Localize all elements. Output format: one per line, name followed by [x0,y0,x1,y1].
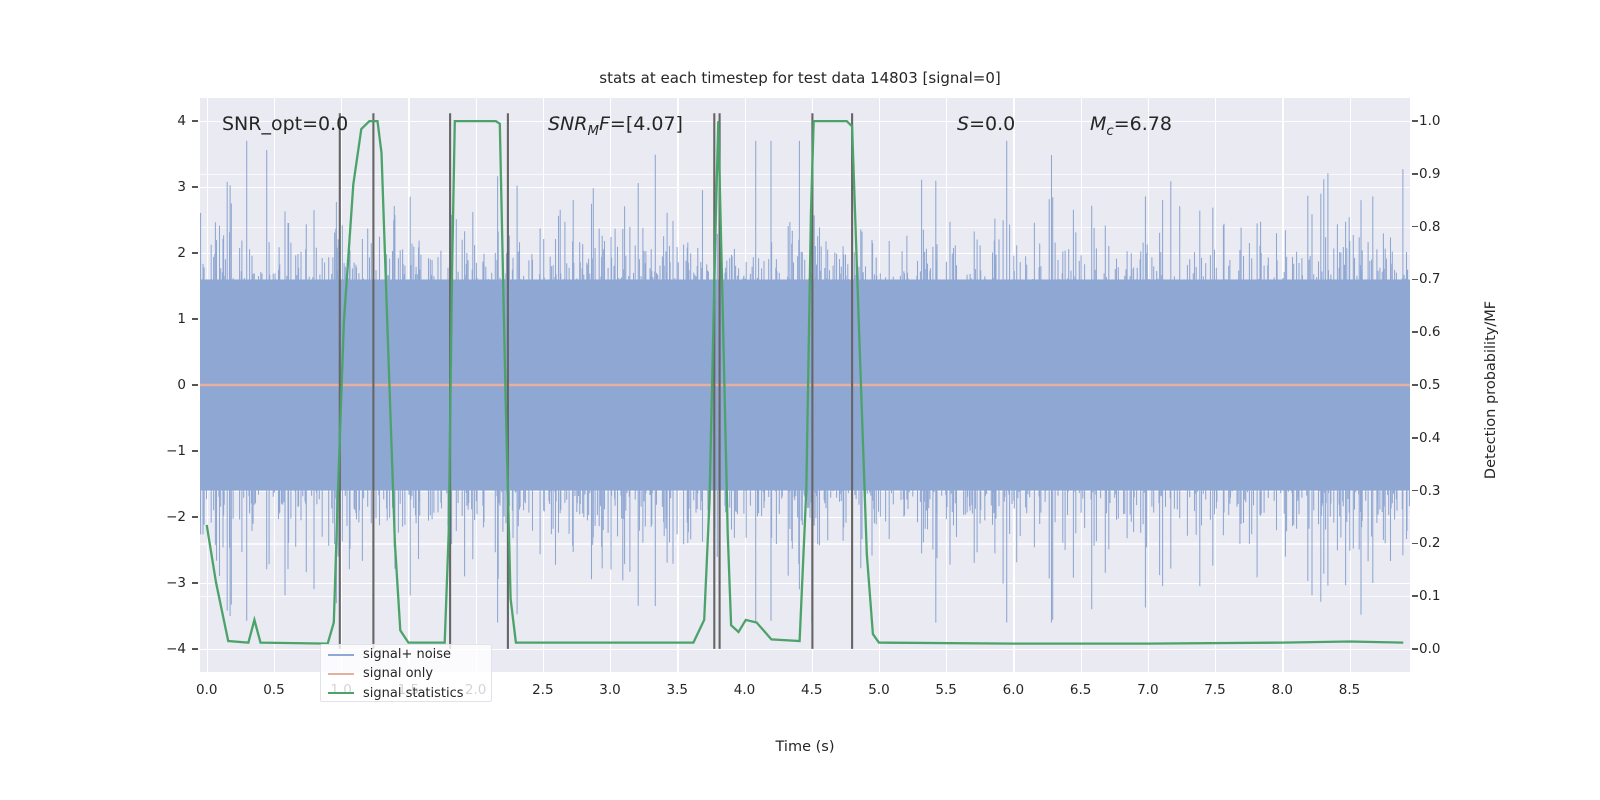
y-axis-left-tick-mark [192,252,198,254]
figure-canvas: stats at each timestep for test data 148… [0,0,1600,800]
y-axis-left-tick-label: 2 [177,245,186,261]
y-axis-right-tick-label: 0.9 [1419,166,1440,182]
x-axis-label: Time (s) [776,739,835,755]
x-axis-tick-label: 6.0 [1003,682,1024,698]
y-axis-right-label: Detection probability/MF [1483,301,1499,479]
y-axis-right-tick-label: 0.7 [1419,271,1440,287]
y-axis-left-tick-mark [192,384,198,386]
y-axis-left-tick-label: −2 [166,509,186,525]
x-axis-tick-label: 5.5 [935,682,956,698]
series-signal-plus-noise [200,141,1410,623]
x-axis-tick-label: 7.5 [1204,682,1225,698]
y-axis-right-tick-mark [1412,595,1418,597]
y-axis-left-tick-mark [192,516,198,518]
legend-item: signal only [321,664,491,683]
y-axis-right-tick-mark [1412,490,1418,492]
y-axis-left-tick-label: −3 [166,575,186,591]
y-axis-left-tick-label: −1 [166,443,186,459]
y-axis-right-tick-mark [1412,543,1418,545]
x-axis-tick-label: 4.0 [734,682,755,698]
y-axis-right-tick-label: 0.1 [1419,588,1440,604]
y-axis-right-tick-mark [1412,226,1418,228]
y-axis-right-tick-mark [1412,437,1418,439]
legend-item: signal+ noise [321,645,491,664]
y-axis-left-tick-mark [192,582,198,584]
x-axis-tick-label: 0.0 [196,682,217,698]
y-axis-left-tick-mark [192,450,198,452]
y-axis-right-tick-label: 0.4 [1419,430,1440,446]
y-axis-left-tick-label: 3 [177,179,186,195]
x-axis-tick-label: 3.5 [667,682,688,698]
x-axis-tick-label: 3.0 [599,682,620,698]
y-axis-right-tick-label: 1.0 [1419,113,1440,129]
annotation-s-stat: S=0.0 [957,113,1015,135]
legend-color-swatch [328,673,354,675]
y-axis-left-tick-label: 4 [177,113,186,129]
x-axis-tick-label: 8.0 [1272,682,1293,698]
legend-item: signal statistics [321,684,491,703]
y-axis-right-tick-label: 0.8 [1419,219,1440,235]
annotation-chirp-mass: Mc=6.78 [1090,113,1172,139]
y-axis-right-tick-mark [1412,120,1418,122]
y-axis-right-tick-mark [1412,279,1418,281]
annotation-snr-mf: SNRMF=[4.07] [548,113,683,139]
legend-label: signal statistics [363,686,464,701]
y-axis-left-tick-mark [192,186,198,188]
y-axis-left-tick-mark [192,318,198,320]
annotation-snr-opt: SNR_opt=0.0 [222,113,348,135]
x-axis-tick-label: 4.5 [801,682,822,698]
y-axis-left-label: Whitened strain [0,252,1,367]
y-axis-right-tick-label: 0.2 [1419,535,1440,551]
page-title: stats at each timestep for test data 148… [0,69,1600,87]
y-axis-right-tick-mark [1412,331,1418,333]
y-axis-right-tick-mark [1412,173,1418,175]
plot-area [200,98,1410,672]
y-axis-right-tick-label: 0.5 [1419,377,1440,393]
y-axis-left-tick-mark [192,648,198,650]
x-axis-tick-label: 8.5 [1339,682,1360,698]
legend-color-swatch [328,654,354,656]
chart-svg [200,98,1410,672]
y-axis-right-tick-mark [1412,648,1418,650]
data-layer [200,98,1410,672]
y-axis-left-tick-label: 1 [177,311,186,327]
legend-label: signal+ noise [363,647,451,662]
y-axis-right-tick-label: 0.6 [1419,324,1440,340]
x-axis-tick-label: 5.0 [868,682,889,698]
legend-label: signal only [363,666,433,681]
x-axis-tick-label: 7.0 [1137,682,1158,698]
x-axis-tick-label: 0.5 [263,682,284,698]
y-axis-left-tick-mark [192,120,198,122]
y-axis-right-tick-label: 0.3 [1419,483,1440,499]
y-axis-right-tick-mark [1412,384,1418,386]
chart-legend: signal+ noisesignal onlysignal statistic… [320,644,492,702]
y-axis-left-tick-label: −4 [166,641,186,657]
legend-color-swatch [328,692,354,694]
x-axis-tick-label: 2.5 [532,682,553,698]
y-axis-right-tick-label: 0.0 [1419,641,1440,657]
x-axis-tick-label: 6.5 [1070,682,1091,698]
y-axis-left-tick-label: 0 [177,377,186,393]
